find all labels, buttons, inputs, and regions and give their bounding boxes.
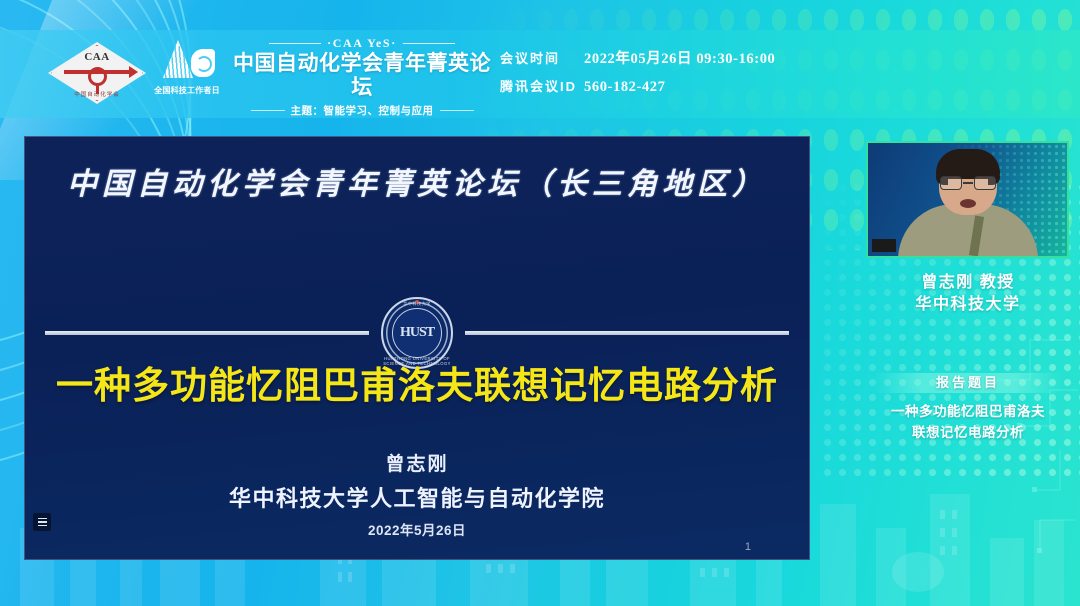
slide-main-title: 一种多功能忆阻巴甫洛夫联想记忆电路分析 [25, 355, 809, 409]
speaker-mouth [960, 199, 976, 208]
speaker-glasses-icon [940, 176, 996, 191]
banner-title-block: ·CAA YeS· 中国自动化学会青年菁英论坛 主题：智能学习、控制与应用 [228, 36, 496, 118]
slide-menu-icon[interactable] [33, 513, 51, 531]
speaker-video-tile[interactable] [866, 141, 1069, 258]
shared-slide[interactable]: 中国自动化学会青年菁英论坛（长三角地区） 华中科技大学 HUST HUAZHON… [24, 136, 810, 560]
banner-main-title: 中国自动化学会青年菁英论坛 [228, 52, 496, 100]
science-workers-day-logo: 全国科技工作者日 [152, 40, 222, 108]
swd-emblem-icon [159, 40, 215, 82]
slide-author-affiliation: 华中科技大学人工智能与自动化学院 [25, 481, 809, 513]
meeting-time-row: 会议时间 2022年05月26日 09:30-16:00 [500, 47, 775, 68]
divider-line-left [45, 331, 369, 335]
divider-line-right [465, 331, 789, 335]
video-name-tag [872, 239, 896, 252]
slide-header-title: 中国自动化学会青年菁英论坛（长三角地区） [25, 159, 809, 203]
caa-logo-chinese-name: 中国自动化学会 [48, 90, 146, 98]
speaker-hair [936, 149, 1000, 179]
meeting-time-label: 会议时间 [500, 48, 584, 67]
slide-page-number: 1 [745, 541, 751, 553]
meeting-time-value: 2022年05月26日 09:30-16:00 [584, 47, 775, 68]
meeting-info: 会议时间 2022年05月26日 09:30-16:00 腾讯会议ID 560-… [500, 47, 775, 104]
speaker-name-label: 曾志刚 教授 [856, 268, 1080, 292]
banner-subtitle: 主题：智能学习、控制与应用 [291, 103, 434, 118]
meeting-id-value: 560-182-427 [584, 79, 666, 96]
hust-logo-initials: HUST [400, 325, 434, 341]
speaker-organization-label: 华中科技大学 [856, 290, 1080, 314]
caa-logo: CAA 中国自动化学会 [48, 42, 146, 104]
hust-logo-chinese-name: 华中科技大学 [381, 301, 453, 307]
meeting-id-label: 腾讯会议ID [500, 76, 584, 95]
event-banner: CAA 中国自动化学会 全国科技工作者日 ·CAA YeS· 中国自动化学会青年… [0, 30, 1080, 118]
topic-heading: 报告题目 [856, 373, 1080, 393]
meeting-id-row: 腾讯会议ID 560-182-427 [500, 76, 775, 96]
topic-text: 一种多功能忆阻巴甫洛夫 联想记忆电路分析 [856, 402, 1080, 444]
swd-logo-caption: 全国科技工作者日 [152, 85, 222, 96]
presentation-screen: CAA 中国自动化学会 全国科技工作者日 ·CAA YeS· 中国自动化学会青年… [0, 0, 1080, 606]
slide-date: 2022年5月26日 [25, 519, 809, 539]
topic-heading-text: 报告题目 [936, 375, 1000, 390]
topic-line-2: 联想记忆电路分析 [856, 423, 1080, 444]
topic-line-1: 一种多功能忆阻巴甫洛夫 [856, 402, 1080, 423]
caa-logo-acronym: CAA [48, 51, 146, 63]
slide-author-name: 曾志刚 [25, 449, 809, 476]
banner-eyebrow: ·CAA YeS· [327, 36, 397, 51]
